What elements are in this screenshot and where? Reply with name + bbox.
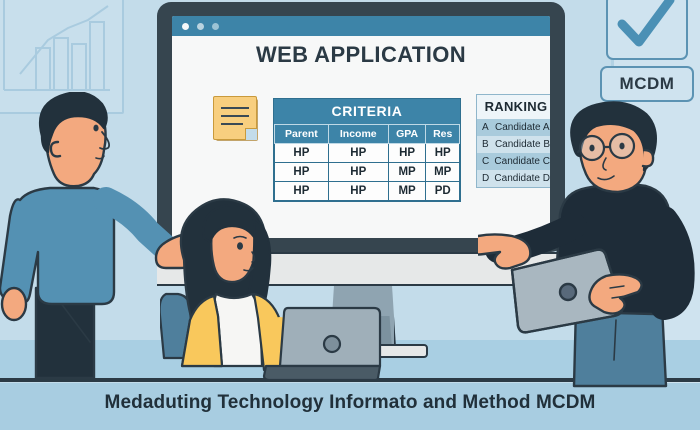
criteria-cell: HP xyxy=(328,144,388,163)
bar-chart-trend-icon xyxy=(0,0,114,102)
page-title: WEB APPLICATION xyxy=(172,42,550,68)
close-dot-icon[interactable] xyxy=(182,23,189,30)
standing-man-right xyxy=(478,100,700,390)
table-row: HP HP MP MP xyxy=(275,163,460,182)
caption-text: Medaduting Technology Informato and Meth… xyxy=(0,392,700,414)
criteria-cell: MP xyxy=(388,163,426,182)
mcdm-badge-label: MCDM xyxy=(620,74,675,94)
criteria-grid: Parent Income GPA Res HP HP HP HP xyxy=(274,124,460,201)
criteria-col-res: Res xyxy=(426,125,460,144)
window-titlebar xyxy=(172,16,550,36)
criteria-cell: MP xyxy=(426,163,460,182)
criteria-col-gpa: GPA xyxy=(388,125,426,144)
criteria-cell: HP xyxy=(426,144,460,163)
check-mark-icon xyxy=(608,0,682,54)
check-badge xyxy=(606,0,688,60)
criteria-header-row: Parent Income GPA Res xyxy=(275,125,460,144)
criteria-cell: HP xyxy=(328,163,388,182)
maximize-dot-icon[interactable] xyxy=(212,23,219,30)
criteria-col-income: Income xyxy=(328,125,388,144)
illustration-canvas: MCDM WEB APPLICATION CRITERIA xyxy=(0,0,700,430)
criteria-cell: MP xyxy=(388,182,426,201)
mcdm-badge: MCDM xyxy=(600,66,694,102)
table-row: HP HP HP HP xyxy=(275,144,460,163)
criteria-cell: PD xyxy=(426,182,460,201)
criteria-col-parent: Parent xyxy=(275,125,329,144)
criteria-table: CRITERIA Parent Income GPA Res HP H xyxy=(273,98,461,202)
criteria-title: CRITERIA xyxy=(274,99,460,124)
minimize-dot-icon[interactable] xyxy=(197,23,204,30)
criteria-cell: HP xyxy=(275,163,329,182)
woman-laptop xyxy=(262,304,382,382)
criteria-cell: HP xyxy=(275,144,329,163)
criteria-cell: HP xyxy=(388,144,426,163)
